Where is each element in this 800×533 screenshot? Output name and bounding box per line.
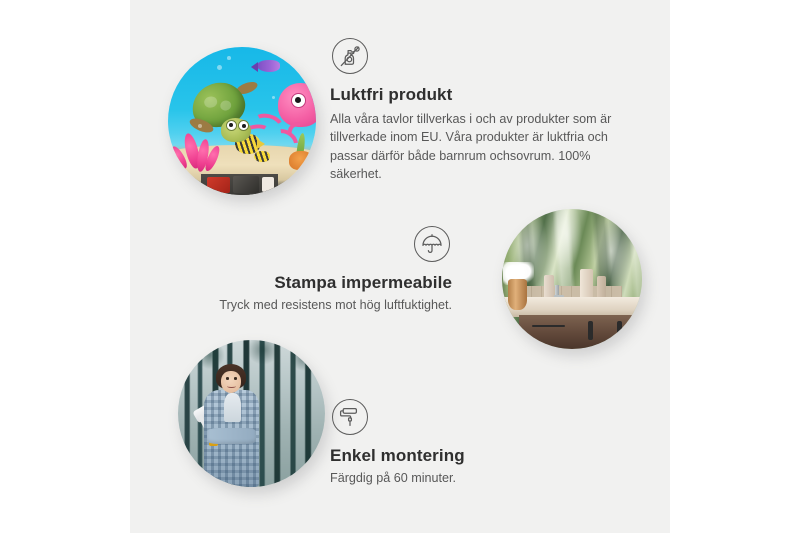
turtle-eye	[226, 120, 237, 131]
soap-bottle	[580, 269, 593, 300]
feature-title: Stampa impermeabile	[180, 273, 452, 293]
umbrella-icon	[414, 226, 450, 262]
feature-easy-mounting: Enkel montering Färgdig på 60 minuter.	[330, 399, 590, 487]
feature-description: Tryck med resistens mot hög luftfuktighe…	[180, 296, 452, 314]
feature-odourless: Luktfri produkt Alla våra tavlor tillver…	[330, 38, 630, 183]
no-fragrance-spray-icon	[332, 38, 368, 74]
octopus-eye	[291, 93, 306, 108]
framed-picture-dark	[233, 176, 259, 193]
striped-fish	[254, 151, 270, 163]
feature-description: Alla våra tavlor tillverkas i och av pro…	[330, 110, 630, 183]
door-handle	[617, 321, 622, 340]
starfish	[289, 151, 313, 170]
drawer-handle	[532, 325, 565, 327]
woman-face	[221, 371, 242, 393]
woman-eye	[234, 377, 237, 379]
door-handle	[588, 321, 593, 340]
framed-picture-red	[207, 177, 230, 193]
feature-description: Färgdig på 60 minuter.	[330, 469, 590, 487]
paint-roller-icon	[332, 399, 368, 435]
purple-fish	[257, 60, 281, 72]
woman-tshirt	[224, 393, 242, 422]
feature-title: Enkel montering	[330, 446, 590, 466]
product-image-bathroom	[502, 209, 642, 349]
vase	[508, 279, 528, 310]
product-feature-banner: Luktfri produkt Alla våra tavlor tillver…	[0, 0, 800, 533]
woman-crossed-arms	[207, 428, 256, 444]
woman-eye	[226, 377, 229, 379]
framed-picture-light	[262, 177, 274, 192]
feature-waterproof: Stampa impermeabile Tryck med resistens …	[180, 226, 452, 314]
feature-title: Luktfri produkt	[330, 85, 630, 105]
product-image-forest	[178, 340, 325, 487]
framed-pictures	[201, 174, 278, 195]
vanity-cabinet	[519, 315, 642, 349]
bubble	[227, 56, 231, 60]
product-image-ocean	[168, 47, 316, 195]
